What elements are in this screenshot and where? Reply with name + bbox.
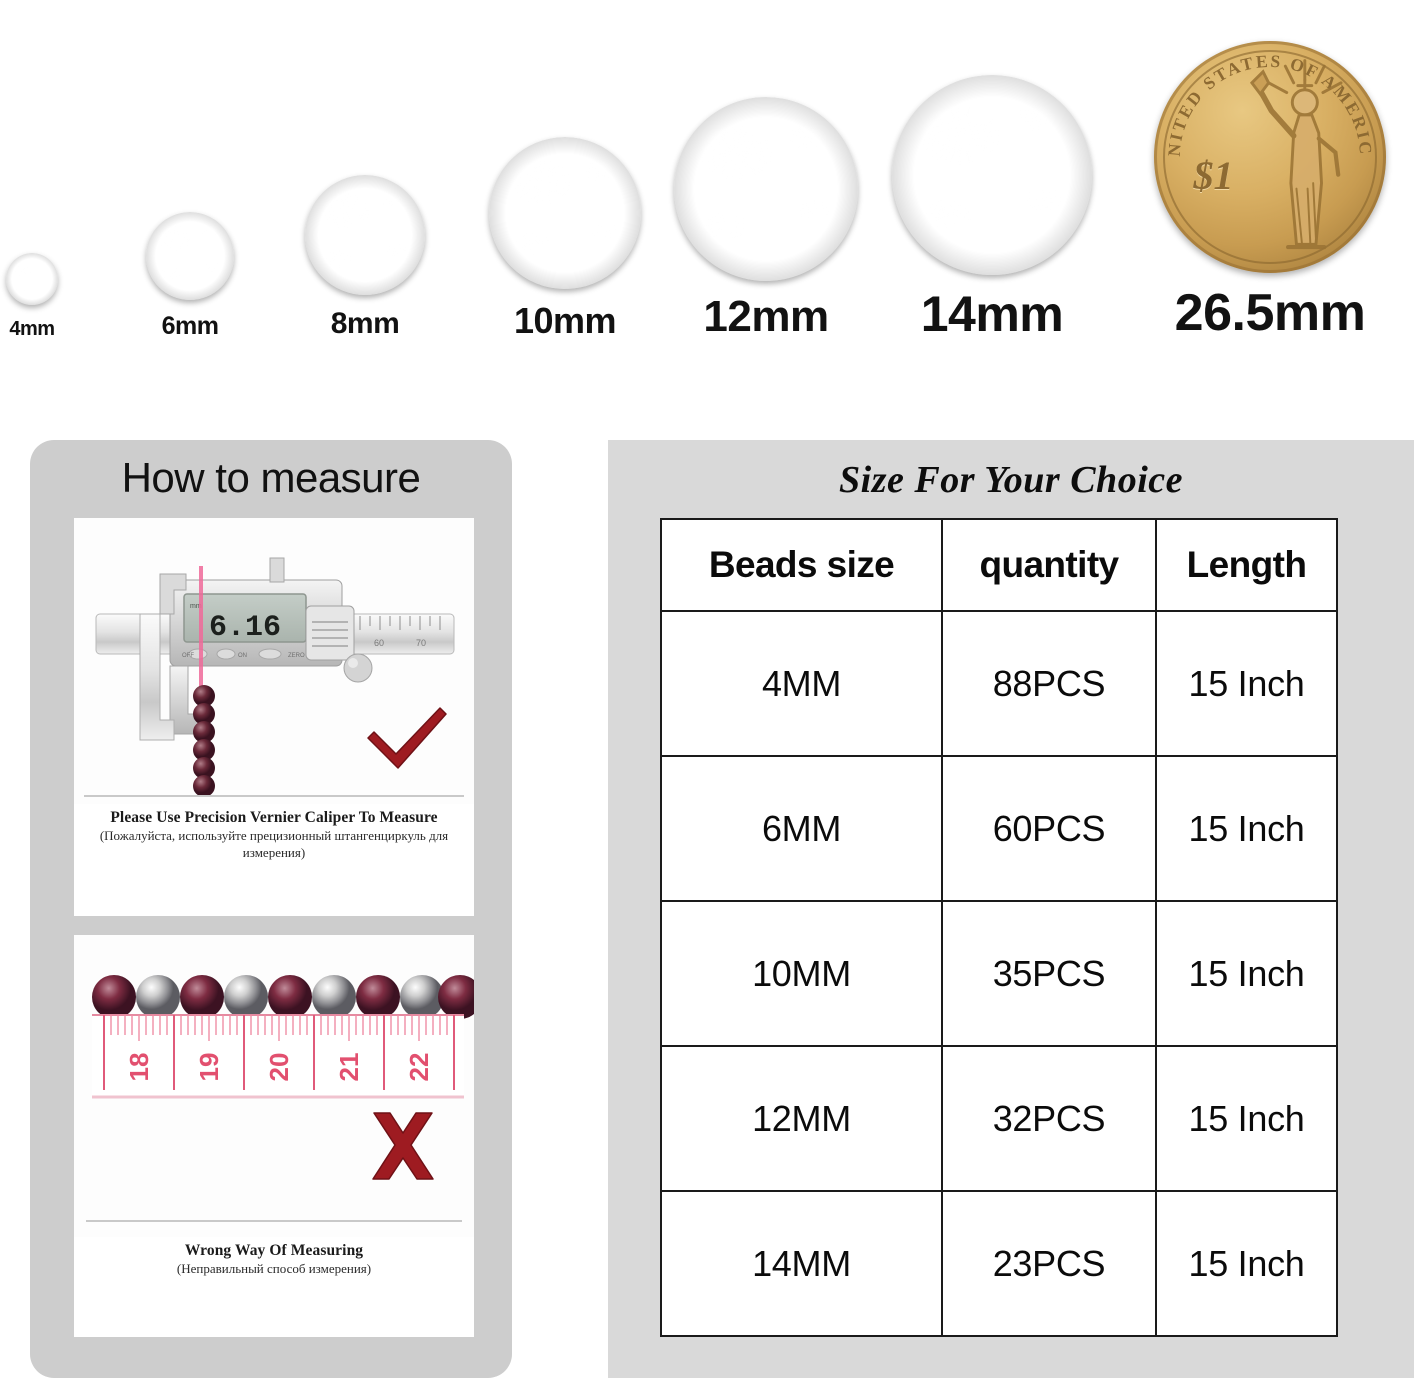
wrong-caption-en: Wrong Way Of Measuring — [80, 1241, 468, 1260]
malachite-bead-14mm — [892, 75, 1092, 275]
malachite-bead-6mm — [146, 212, 234, 300]
size-label-6mm: 6mm — [162, 314, 219, 339]
malachite-bead-8mm — [305, 175, 425, 295]
correct-caption-ru: (Пожалуйста, используйте прецизионный шт… — [80, 828, 468, 862]
column-header-quantity: quantity — [942, 519, 1156, 611]
how-to-measure-panel: How to measure — [30, 440, 512, 1378]
measured-bead-strand — [193, 685, 215, 797]
svg-text:ZERO: ZERO — [288, 653, 305, 659]
ruler-tick-22: 22 — [404, 1053, 434, 1082]
size-label-26-5mm: 26.5mm — [1175, 287, 1366, 339]
tape-measure-photo: 18 19 20 21 22 — [74, 935, 474, 1237]
ruler-tick-20: 20 — [264, 1053, 294, 1082]
size-label-8mm: 8mm — [331, 309, 400, 339]
size-label-14mm: 14mm — [921, 289, 1064, 339]
wrong-caption-ru: (Неправильный способ измерения) — [80, 1261, 468, 1278]
bead-strand-on-tape — [92, 975, 474, 1019]
table-row: 6MM60PCS15 Inch — [661, 756, 1337, 901]
size-sample-6mm: 6mm — [146, 0, 234, 345]
table-header-row: Beads size quantity Length — [661, 519, 1337, 611]
size-label-12mm: 12mm — [703, 295, 828, 339]
cell-size: 14MM — [661, 1191, 942, 1336]
ruler-tick-18: 18 — [124, 1053, 154, 1082]
size-sample-8mm: 8mm — [305, 0, 425, 345]
size-table: Beads size quantity Length 4MM88PCS15 In… — [660, 518, 1338, 1337]
cell-size: 6MM — [661, 756, 942, 901]
bead-size-comparison-row: 4mm6mm8mm10mm12mm14mmUNITED STATES OF AM… — [0, 0, 1414, 345]
correct-method-card: 50 60 70 mm 6.16 OFF ON ZERO — [74, 518, 474, 916]
size-table-panel: Size For Your Choice Beads size quantity… — [608, 440, 1414, 1378]
caliper-reading-value: 6.16 — [209, 611, 281, 645]
cell-quantity: 88PCS — [942, 611, 1156, 756]
how-to-measure-title: How to measure — [30, 440, 512, 502]
cell-quantity: 35PCS — [942, 901, 1156, 1046]
svg-text:OFF: OFF — [182, 653, 194, 659]
malachite-bead-4mm — [6, 253, 58, 305]
size-table-title: Size For Your Choice — [608, 440, 1414, 502]
malachite-bead-10mm — [489, 137, 641, 289]
tape-measure-illustration: 18 19 20 21 22 — [74, 935, 474, 1237]
cell-size: 4MM — [661, 611, 942, 756]
svg-text:ON: ON — [238, 653, 247, 659]
table-row: 4MM88PCS15 Inch — [661, 611, 1337, 756]
column-header-length: Length — [1156, 519, 1337, 611]
malachite-bead-12mm — [674, 97, 858, 281]
table-row: 12MM32PCS15 Inch — [661, 1046, 1337, 1191]
cell-length: 15 Inch — [1156, 611, 1337, 756]
cell-length: 15 Inch — [1156, 1191, 1337, 1336]
size-label-4mm: 4mm — [9, 319, 54, 339]
cell-quantity: 60PCS — [942, 756, 1156, 901]
caliper-photo: 50 60 70 mm 6.16 OFF ON ZERO — [74, 518, 474, 804]
wrong-method-caption: Wrong Way Of Measuring (Неправильный спо… — [74, 1237, 474, 1278]
table-row: 10MM35PCS15 Inch — [661, 901, 1337, 1046]
svg-text:60: 60 — [374, 638, 384, 648]
cell-quantity: 32PCS — [942, 1046, 1156, 1191]
product-size-chart: 4mm6mm8mm10mm12mm14mmUNITED STATES OF AM… — [0, 0, 1414, 1384]
table-row: 14MM23PCS15 Inch — [661, 1191, 1337, 1336]
cell-length: 15 Inch — [1156, 756, 1337, 901]
cell-length: 15 Inch — [1156, 1046, 1337, 1191]
cell-length: 15 Inch — [1156, 901, 1337, 1046]
cell-quantity: 23PCS — [942, 1191, 1156, 1336]
size-label-10mm: 10mm — [514, 303, 616, 339]
size-sample-10mm: 10mm — [489, 0, 641, 345]
correct-method-caption: Please Use Precision Vernier Caliper To … — [74, 804, 474, 862]
wrong-method-card: 18 19 20 21 22 Wrong Way Of Measuring ( — [74, 935, 474, 1337]
cell-size: 10MM — [661, 901, 942, 1046]
x-mark-icon — [366, 1109, 440, 1183]
cell-size: 12MM — [661, 1046, 942, 1191]
size-sample-12mm: 12mm — [674, 0, 858, 345]
column-header-beads-size: Beads size — [661, 519, 942, 611]
coin-denomination: $1 — [1193, 152, 1233, 199]
ruler-tick-21: 21 — [334, 1053, 364, 1082]
statue-of-liberty-figure — [1238, 55, 1377, 264]
size-sample-14mm: 14mm — [892, 0, 1092, 345]
ruler-tick-19: 19 — [194, 1053, 224, 1082]
size-sample-4mm: 4mm — [6, 0, 58, 345]
dollar-coin: UNITED STATES OF AMERICA$1 — [1154, 41, 1386, 273]
checkmark-icon — [364, 704, 450, 774]
size-sample-26-5mm: UNITED STATES OF AMERICA$126.5mm — [1154, 0, 1386, 345]
svg-text:70: 70 — [416, 638, 426, 648]
correct-caption-en: Please Use Precision Vernier Caliper To … — [80, 808, 468, 827]
